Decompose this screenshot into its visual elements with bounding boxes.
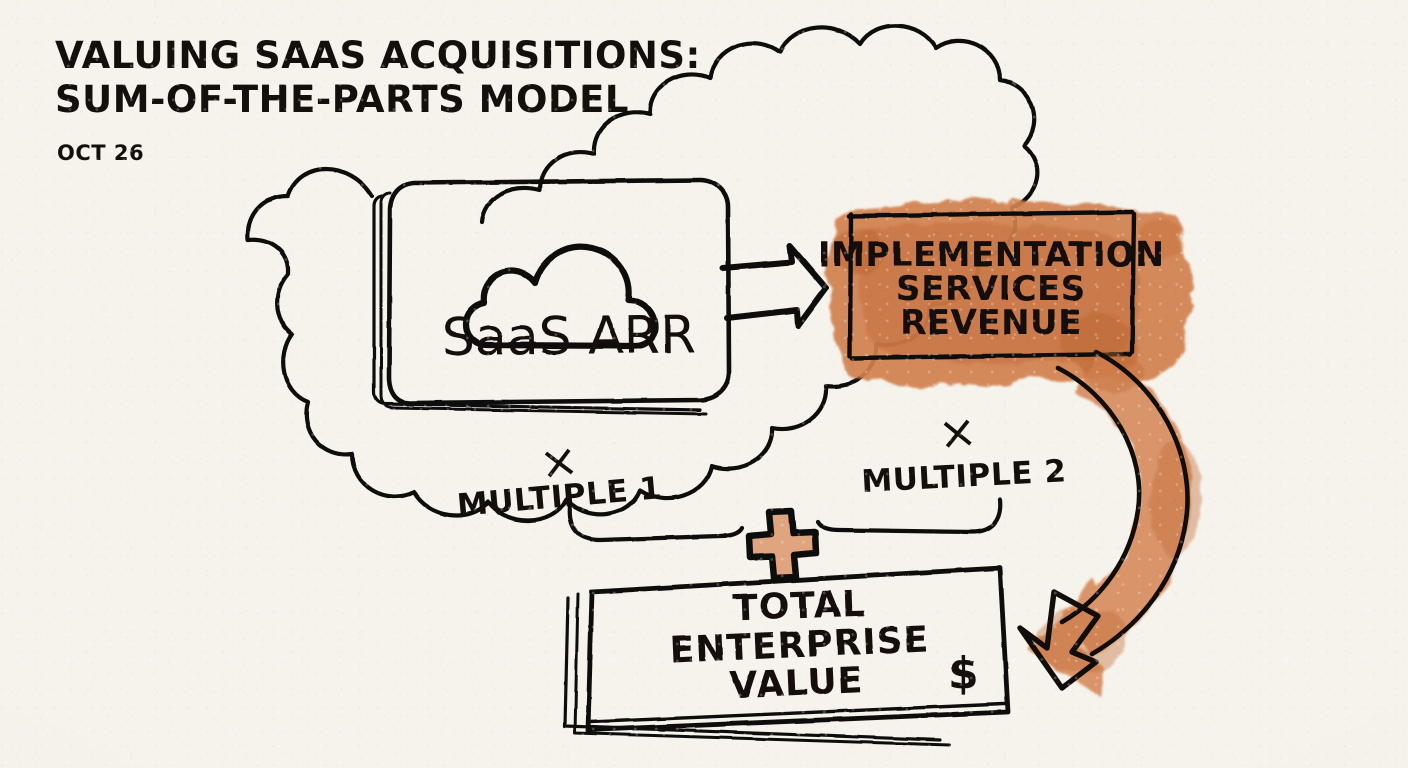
page-title-line-1: VALUING SAAS ACQUISITIONS: — [55, 34, 701, 77]
plus-operator — [749, 511, 816, 578]
whiteboard-canvas: SaaS ARR IMPLEMENTATION SERVICES REVENUE — [0, 0, 1408, 768]
implementation-line-3: REVENUE — [900, 303, 1082, 343]
bracket-right — [818, 500, 1000, 532]
dollar-icon: $ — [948, 648, 979, 699]
node-total-enterprise-value[interactable]: TOTAL ENTERPRISE VALUE $ — [565, 568, 1008, 745]
times-symbol-2: × — [936, 403, 980, 461]
arrow-saas-to-services — [723, 246, 826, 326]
page-title-line-2: SUM-OF-THE-PARTS MODEL — [55, 78, 629, 121]
multiple-1-label: MULTIPLE 1 — [456, 470, 664, 524]
tev-line-3: VALUE — [729, 660, 864, 707]
header-date: OCT 26 — [57, 141, 144, 165]
node-saas-arr[interactable]: SaaS ARR — [374, 180, 729, 414]
saas-arr-label: SaaS ARR — [442, 305, 697, 368]
arrow-services-to-total-value — [1020, 350, 1201, 700]
header-block: VALUING SAAS ACQUISITIONS: SUM-OF-THE-PA… — [55, 34, 701, 165]
multiplier-2-group: × MULTIPLE 2 — [818, 403, 1067, 532]
multiple-2-label: MULTIPLE 2 — [861, 453, 1068, 500]
